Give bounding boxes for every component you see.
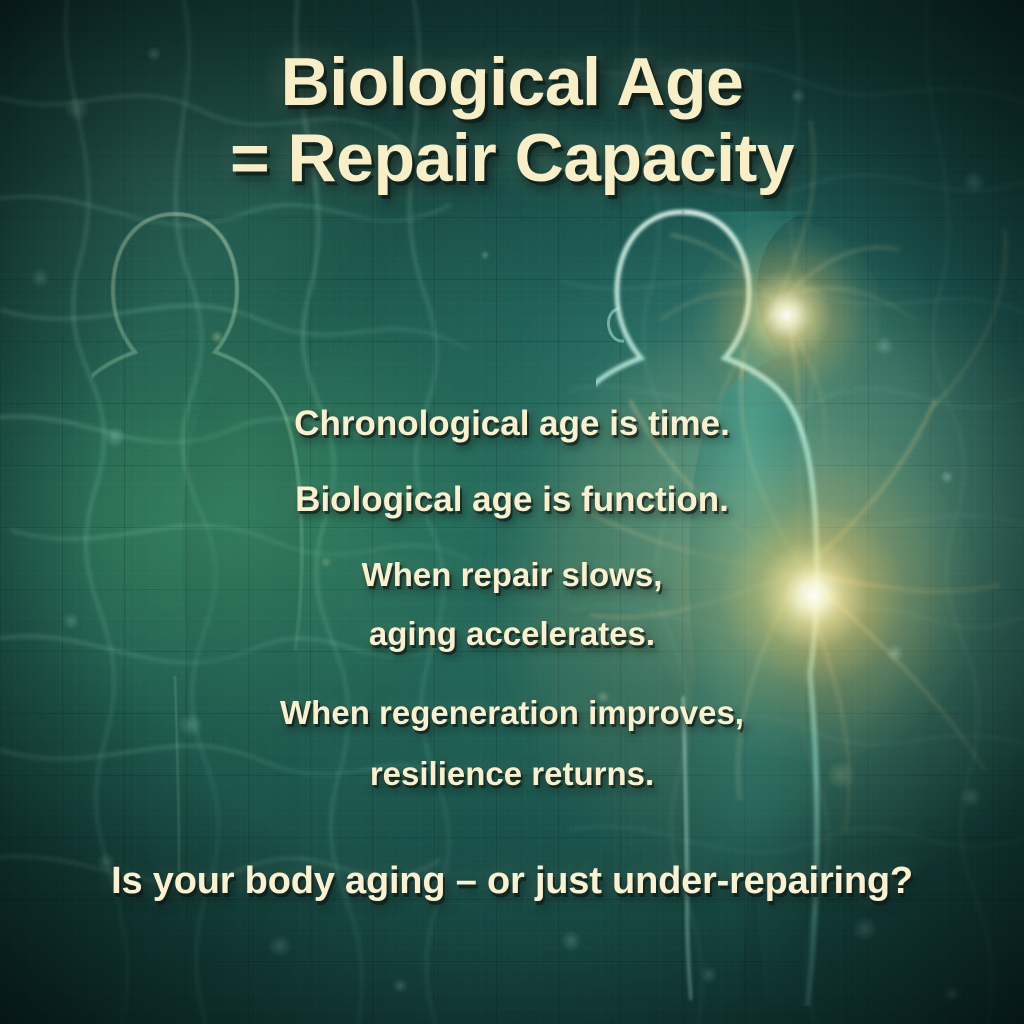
poster-canvas: Biological Age = Repair Capacity Chronol… [0,0,1024,1024]
body-line-3: When repair slows, [0,556,1024,594]
body-line-6: resilience returns. [0,755,1024,793]
body-line-5: When regeneration improves, [0,694,1024,732]
body-line-2: Biological age is function. [0,480,1024,520]
poster-text-content: Biological Age = Repair Capacity Chronol… [0,0,1024,1024]
body-line-4: aging accelerates. [0,615,1024,653]
page-title-line-2: = Repair Capacity [0,124,1024,193]
closing-question: Is your body aging – or just under-repai… [0,860,1024,903]
page-title-line-1: Biological Age [0,48,1024,117]
body-line-1: Chronological age is time. [0,404,1024,444]
